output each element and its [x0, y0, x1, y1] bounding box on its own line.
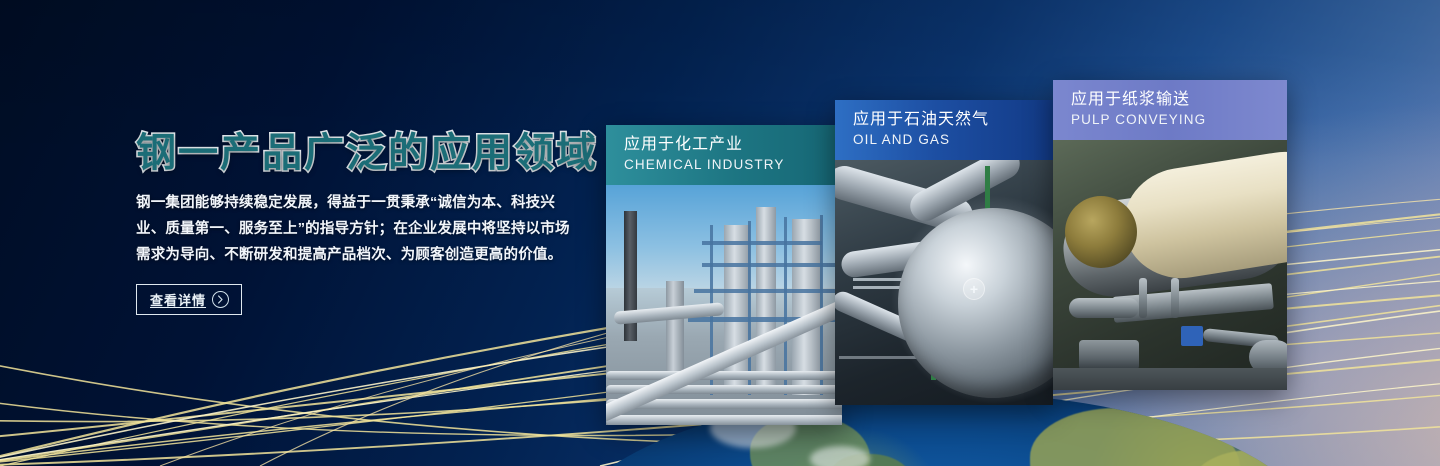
view-details-button[interactable]: 查看详情 [136, 284, 242, 315]
hero-description: 钢一集团能够持续稳定发展，得益于一贯秉承“诚信为本、科技兴业、质量第一、服务至上… [136, 190, 574, 268]
plus-icon[interactable]: + [963, 278, 985, 300]
view-details-label: 查看详情 [150, 290, 206, 309]
card-title-en: PULP CONVEYING [1071, 111, 1287, 129]
hero-banner: 钢一产品广泛的应用领域 钢一集团能够持续稳定发展，得益于一贯秉承“诚信为本、科技… [0, 0, 1440, 466]
card-image-chemical-plant [606, 185, 842, 425]
page-title: 钢一产品广泛的应用领域 [136, 132, 596, 174]
application-card-chemical-industry[interactable]: 应用于化工产业 CHEMICAL INDUSTRY [606, 125, 842, 425]
card-header-oil-and-gas: 应用于石油天然气 OIL AND GAS [835, 100, 1053, 160]
card-title-en: OIL AND GAS [853, 131, 1053, 149]
chevron-right-circle-icon [212, 291, 229, 308]
card-image-pulp-roller [1053, 140, 1287, 390]
card-header-pulp-conveying: 应用于纸浆输送 PULP CONVEYING [1053, 80, 1287, 140]
hero-copy: 钢一产品广泛的应用领域 钢一集团能够持续稳定发展，得益于一贯秉承“诚信为本、科技… [136, 132, 596, 315]
card-header-chemical-industry: 应用于化工产业 CHEMICAL INDUSTRY [606, 125, 842, 185]
card-title-cn: 应用于化工产业 [624, 135, 842, 155]
card-title-cn: 应用于石油天然气 [853, 110, 1053, 130]
card-title-cn: 应用于纸浆输送 [1071, 90, 1287, 110]
card-title-en: CHEMICAL INDUSTRY [624, 156, 842, 174]
application-card-pulp-conveying[interactable]: 应用于纸浆输送 PULP CONVEYING [1053, 80, 1287, 390]
application-card-oil-and-gas[interactable]: 应用于石油天然气 OIL AND GAS + [835, 100, 1053, 405]
card-image-oil-refinery: + [835, 160, 1053, 405]
